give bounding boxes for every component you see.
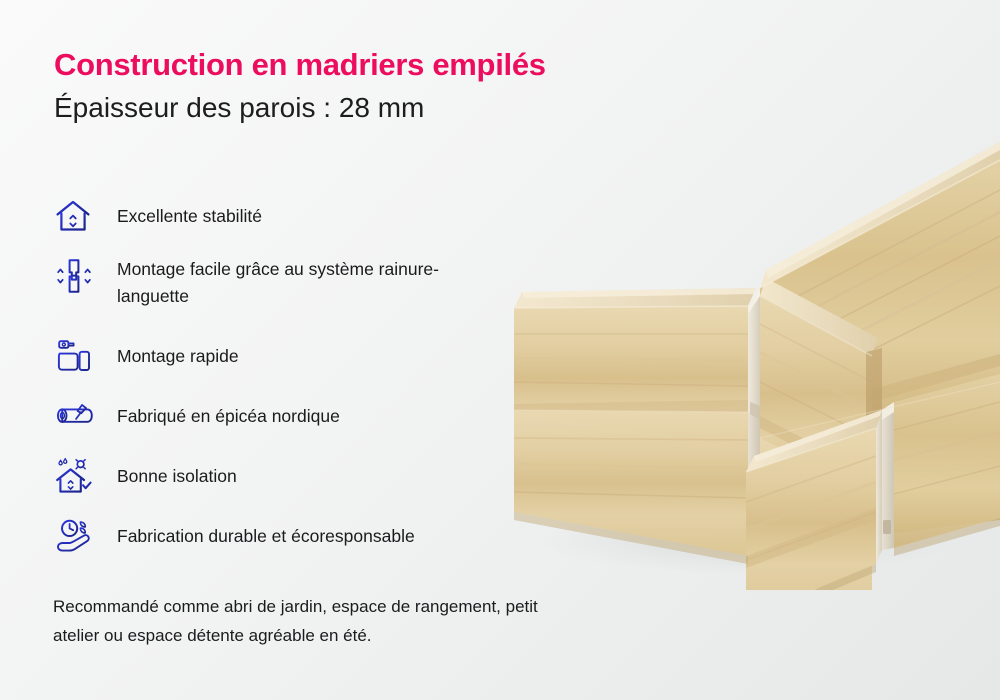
feature-label: Montage rapide (117, 334, 239, 370)
page-title: Construction en madriers empilés (54, 48, 546, 83)
house-sun-rain-check-icon (52, 454, 98, 498)
feature-item-insulation: Bonne isolation (52, 454, 482, 498)
house-height-arrow-icon (52, 194, 98, 238)
tongue-and-groove-profile-icon (52, 254, 98, 298)
feature-label: Montage facile grâce au système rainure-… (117, 254, 467, 310)
page-subtitle: Épaisseur des parois : 28 mm (54, 92, 546, 123)
feature-list: Excellente stabilité (52, 194, 482, 558)
feature-label: Excellente stabilité (117, 194, 262, 230)
heading-block: Construction en madriers empilés Épaisse… (54, 48, 546, 123)
feature-label: Fabriqué en épicéa nordique (117, 394, 340, 430)
feature-label: Bonne isolation (117, 454, 237, 490)
feature-item-tongue-and-groove: Montage facile grâce au système rainure-… (52, 254, 482, 318)
infographic-canvas: Construction en madriers empilés Épaisse… (0, 0, 1000, 700)
log-with-axe-icon (52, 394, 98, 438)
feature-item-fast-assembly: Montage rapide (52, 334, 482, 378)
feature-label: Fabrication durable et écoresponsable (117, 514, 415, 550)
hand-holding-drill-icon (52, 334, 98, 378)
feature-item-nordic-spruce: Fabriqué en épicéa nordique (52, 394, 482, 438)
recommendation-note: Recommandé comme abri de jardin, espace … (53, 592, 583, 650)
feature-item-stability: Excellente stabilité (52, 194, 482, 238)
feature-item-sustainable: Fabrication durable et écoresponsable (52, 514, 482, 558)
hand-clock-leaves-icon (52, 514, 98, 558)
stacked-timber-corner-joint-photo (498, 120, 1000, 590)
